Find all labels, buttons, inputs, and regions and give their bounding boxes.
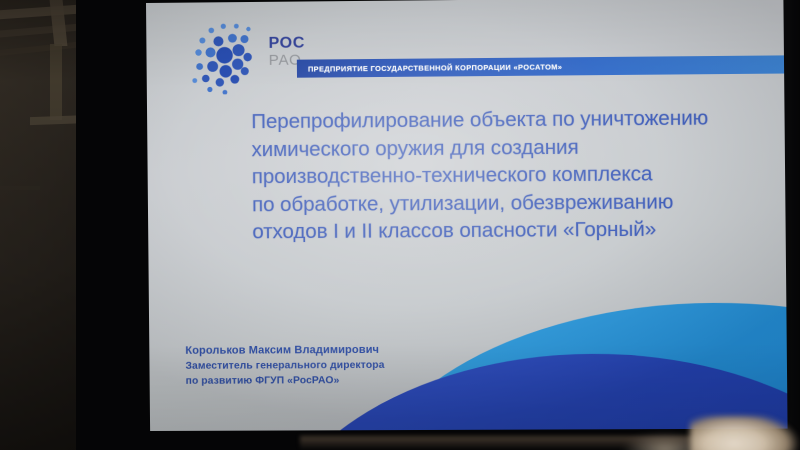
rosatom-banner-text: ПРЕДПРИЯТИЕ ГОСУДАРСТВЕННОЙ КОРПОРАЦИИ «…: [297, 62, 562, 73]
slide-title-line-3: производственно-технического комплекса: [252, 159, 777, 190]
logo: РОС РАО: [182, 15, 313, 94]
speaker-role-line-2: по развитию ФГУП «РосРАО»: [186, 373, 385, 389]
wave-decoration: [148, 237, 787, 431]
slide-title-line-4: по обработке, утилизации, обезвреживанию: [252, 187, 777, 218]
logo-line-ros: РОС: [269, 36, 306, 52]
speaker-name: Корольков Максим Владимирович: [185, 343, 384, 359]
slide-title-line-1: Перепрофилирование объекта по уничтожени…: [251, 104, 776, 136]
presentation-slide: РОС РАО ПРЕДПРИЯТИЕ ГОСУДАРСТВЕННОЙ КОРП…: [146, 0, 788, 431]
slide-title-line-5: отходов I и II классов опасности «Горный…: [252, 215, 777, 246]
rosatom-banner: ПРЕДПРИЯТИЕ ГОСУДАРСТВЕННОЙ КОРПОРАЦИИ «…: [297, 55, 784, 77]
slide-title: Перепрофилирование объекта по уничтожени…: [251, 104, 777, 246]
speaker-role-line-1: Заместитель генерального директора: [185, 358, 384, 374]
ros-rao-dots-icon: [182, 16, 269, 95]
slide-title-line-2: химического оружия для создания: [251, 132, 776, 164]
foreground-person-head: [690, 416, 800, 450]
photo-scene: РОС РАО ПРЕДПРИЯТИЕ ГОСУДАРСТВЕННОЙ КОРП…: [0, 0, 800, 450]
speaker-block: Корольков Максим Владимирович Заместител…: [185, 343, 384, 389]
